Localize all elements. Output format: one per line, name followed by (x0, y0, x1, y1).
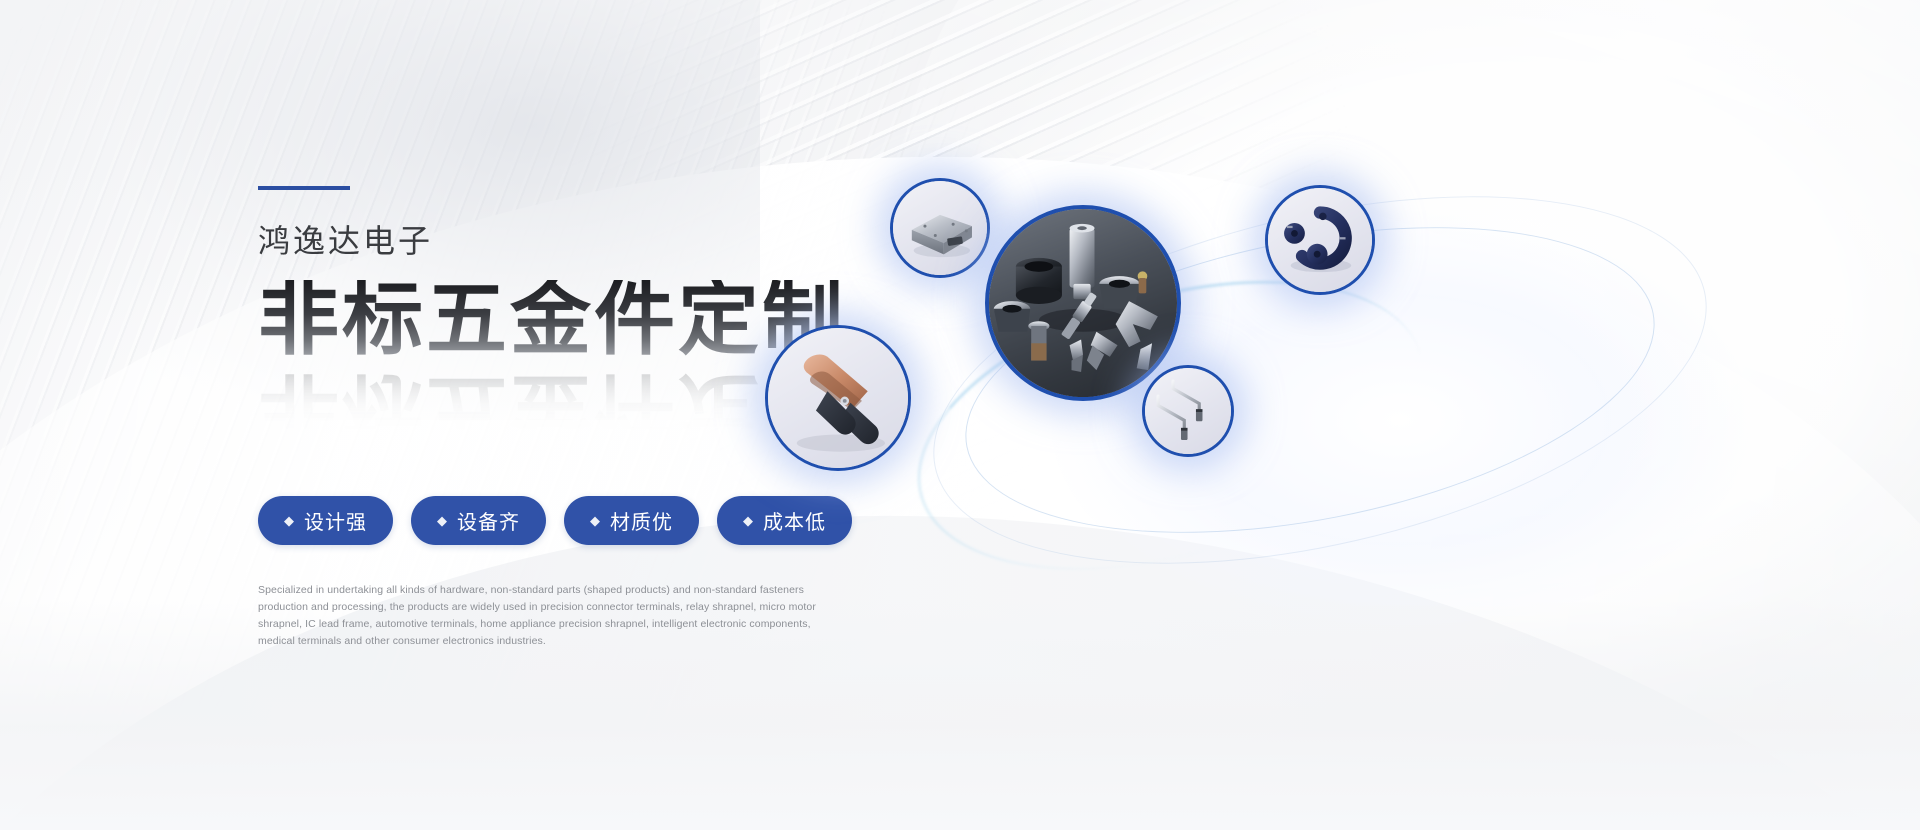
bent-pin-terminals-icon (1145, 368, 1231, 454)
hero-banner: 鸿逸达电子 非标五金件定制 非标五金件定制 ◆ 设计强 ◆ 设备齐 ◆ 材质优 … (0, 0, 1920, 830)
product-showcase (930, 120, 1890, 640)
product-bubble-copper-battery-clamp[interactable] (765, 325, 911, 471)
feature-pill-label: 设计强 (304, 506, 367, 535)
diamond-icon: ◆ (284, 514, 295, 527)
product-bubble-retaining-ring[interactable] (1265, 185, 1375, 295)
metal-enclosure-box-icon (893, 181, 987, 275)
feature-pill-equipment[interactable]: ◆ 设备齐 (411, 496, 546, 545)
copper-battery-clamp-icon (768, 328, 908, 468)
feature-pill-label: 设备齐 (457, 506, 520, 535)
feature-pill-material[interactable]: ◆ 材质优 (564, 496, 699, 545)
headline-reflection: 非标五金件定制 (258, 368, 846, 449)
feature-pill-row: ◆ 设计强 ◆ 设备齐 ◆ 材质优 ◆ 成本低 (258, 496, 898, 545)
feature-pill-design[interactable]: ◆ 设计强 (258, 496, 393, 545)
accent-rule (258, 186, 350, 190)
brand-name: 鸿逸达电子 (258, 222, 898, 260)
diamond-icon: ◆ (743, 514, 754, 527)
feature-pill-cost[interactable]: ◆ 成本低 (717, 496, 852, 545)
diamond-icon: ◆ (590, 514, 601, 527)
diamond-icon: ◆ (437, 514, 448, 527)
product-bubble-metal-enclosure-box[interactable] (890, 178, 990, 278)
product-bubble-bent-pin-terminals[interactable] (1142, 365, 1234, 457)
feature-pill-label: 材质优 (610, 506, 673, 535)
c-shaped-retaining-ring-icon (1268, 188, 1372, 292)
description-paragraph: Specialized in undertaking all kinds of … (258, 582, 818, 650)
feature-pill-label: 成本低 (763, 506, 826, 535)
